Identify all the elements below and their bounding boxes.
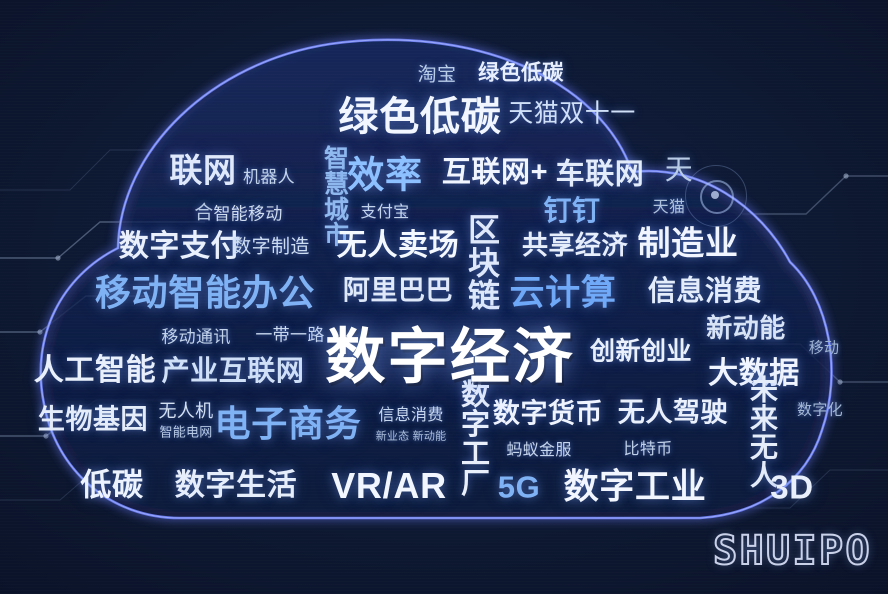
word-cloud-term: 智能电网 [159,426,212,439]
word-cloud-term: 区块链 [466,213,498,311]
word-cloud-term: 创新创业 [590,340,692,365]
word-cloud-term: 人工智能 [34,356,156,386]
word-cloud-term: 支付宝 [361,205,410,221]
word-cloud-term: 蚂蚁金服 [506,443,571,459]
word-cloud-term: 无人机 [158,402,213,420]
word-cloud-term: 云计算 [509,276,616,311]
word-cloud-term: 淘宝 [418,66,457,85]
word-cloud-terms: 淘宝绿色低碳绿色低碳天猫双十一联网机器人智慧城市效率互联网+车联网天合智能移动支… [0,0,888,594]
word-cloud-term: 移动 [809,341,840,356]
word-cloud-term: 数字工厂 [458,379,487,497]
hero-title: 数字经济 [325,309,575,396]
word-cloud-term: 钉钉 [543,197,600,225]
word-cloud-term: 数字化 [797,403,843,418]
word-cloud-term: 联网 [169,154,236,187]
word-cloud-term: VR/AR [331,468,447,504]
word-cloud-term: 一带一路 [255,327,324,344]
word-cloud-term: 无人卖场 [337,231,459,261]
word-cloud-term: 低碳 [80,470,143,501]
digital-economy-word-cloud-poster: 淘宝绿色低碳绿色低碳天猫双十一联网机器人智慧城市效率互联网+车联网天合智能移动支… [0,0,888,594]
word-cloud-term: 无人驾驶 [618,400,728,427]
word-cloud-term: 5G [498,472,541,503]
word-cloud-term: 新业态 新动能 [376,432,447,443]
word-cloud-term: 生物基因 [38,407,148,434]
word-cloud-term: 数字生活 [175,471,297,501]
word-cloud-term: 绿色低碳 [478,63,564,84]
word-cloud-term: 移动通讯 [161,329,230,346]
word-cloud-term: 移动智能办公 [95,275,315,311]
word-cloud-term: 数字货币 [493,401,603,428]
word-cloud-term: 天猫 [653,200,686,216]
word-cloud-term: 数字工业 [564,470,707,505]
word-cloud-term: 产业互联网 [162,357,305,385]
word-cloud-term: 信息消费 [648,277,762,305]
word-cloud-term: 数字支付 [119,232,241,262]
word-cloud-term: 效率 [347,157,422,194]
word-cloud-term: 合 [194,204,213,223]
word-cloud-term: 制造业 [638,227,739,260]
word-cloud-term: 比特币 [624,442,673,458]
word-cloud-term: 电子商务 [215,406,362,442]
word-cloud-term: 数字制造 [232,238,310,257]
watermark-shuipo: SHUIPO [713,528,872,574]
word-cloud-term: 机器人 [243,169,295,186]
word-cloud-term: 信息消费 [378,408,443,424]
word-cloud-term: 3D [770,471,814,504]
word-cloud-term: 互联网+ [442,159,548,188]
word-cloud-term: 天猫双十一 [508,102,636,127]
word-cloud-term: 车联网 [556,161,645,190]
word-cloud-term: 天 [665,156,694,184]
word-cloud-term: 新动能 [706,315,786,341]
word-cloud-term: 阿里巴巴 [343,278,453,305]
word-cloud-term: 共享经济 [522,232,628,258]
word-cloud-term: 智能移动 [213,206,282,223]
word-cloud-term: 绿色低碳 [338,97,501,137]
